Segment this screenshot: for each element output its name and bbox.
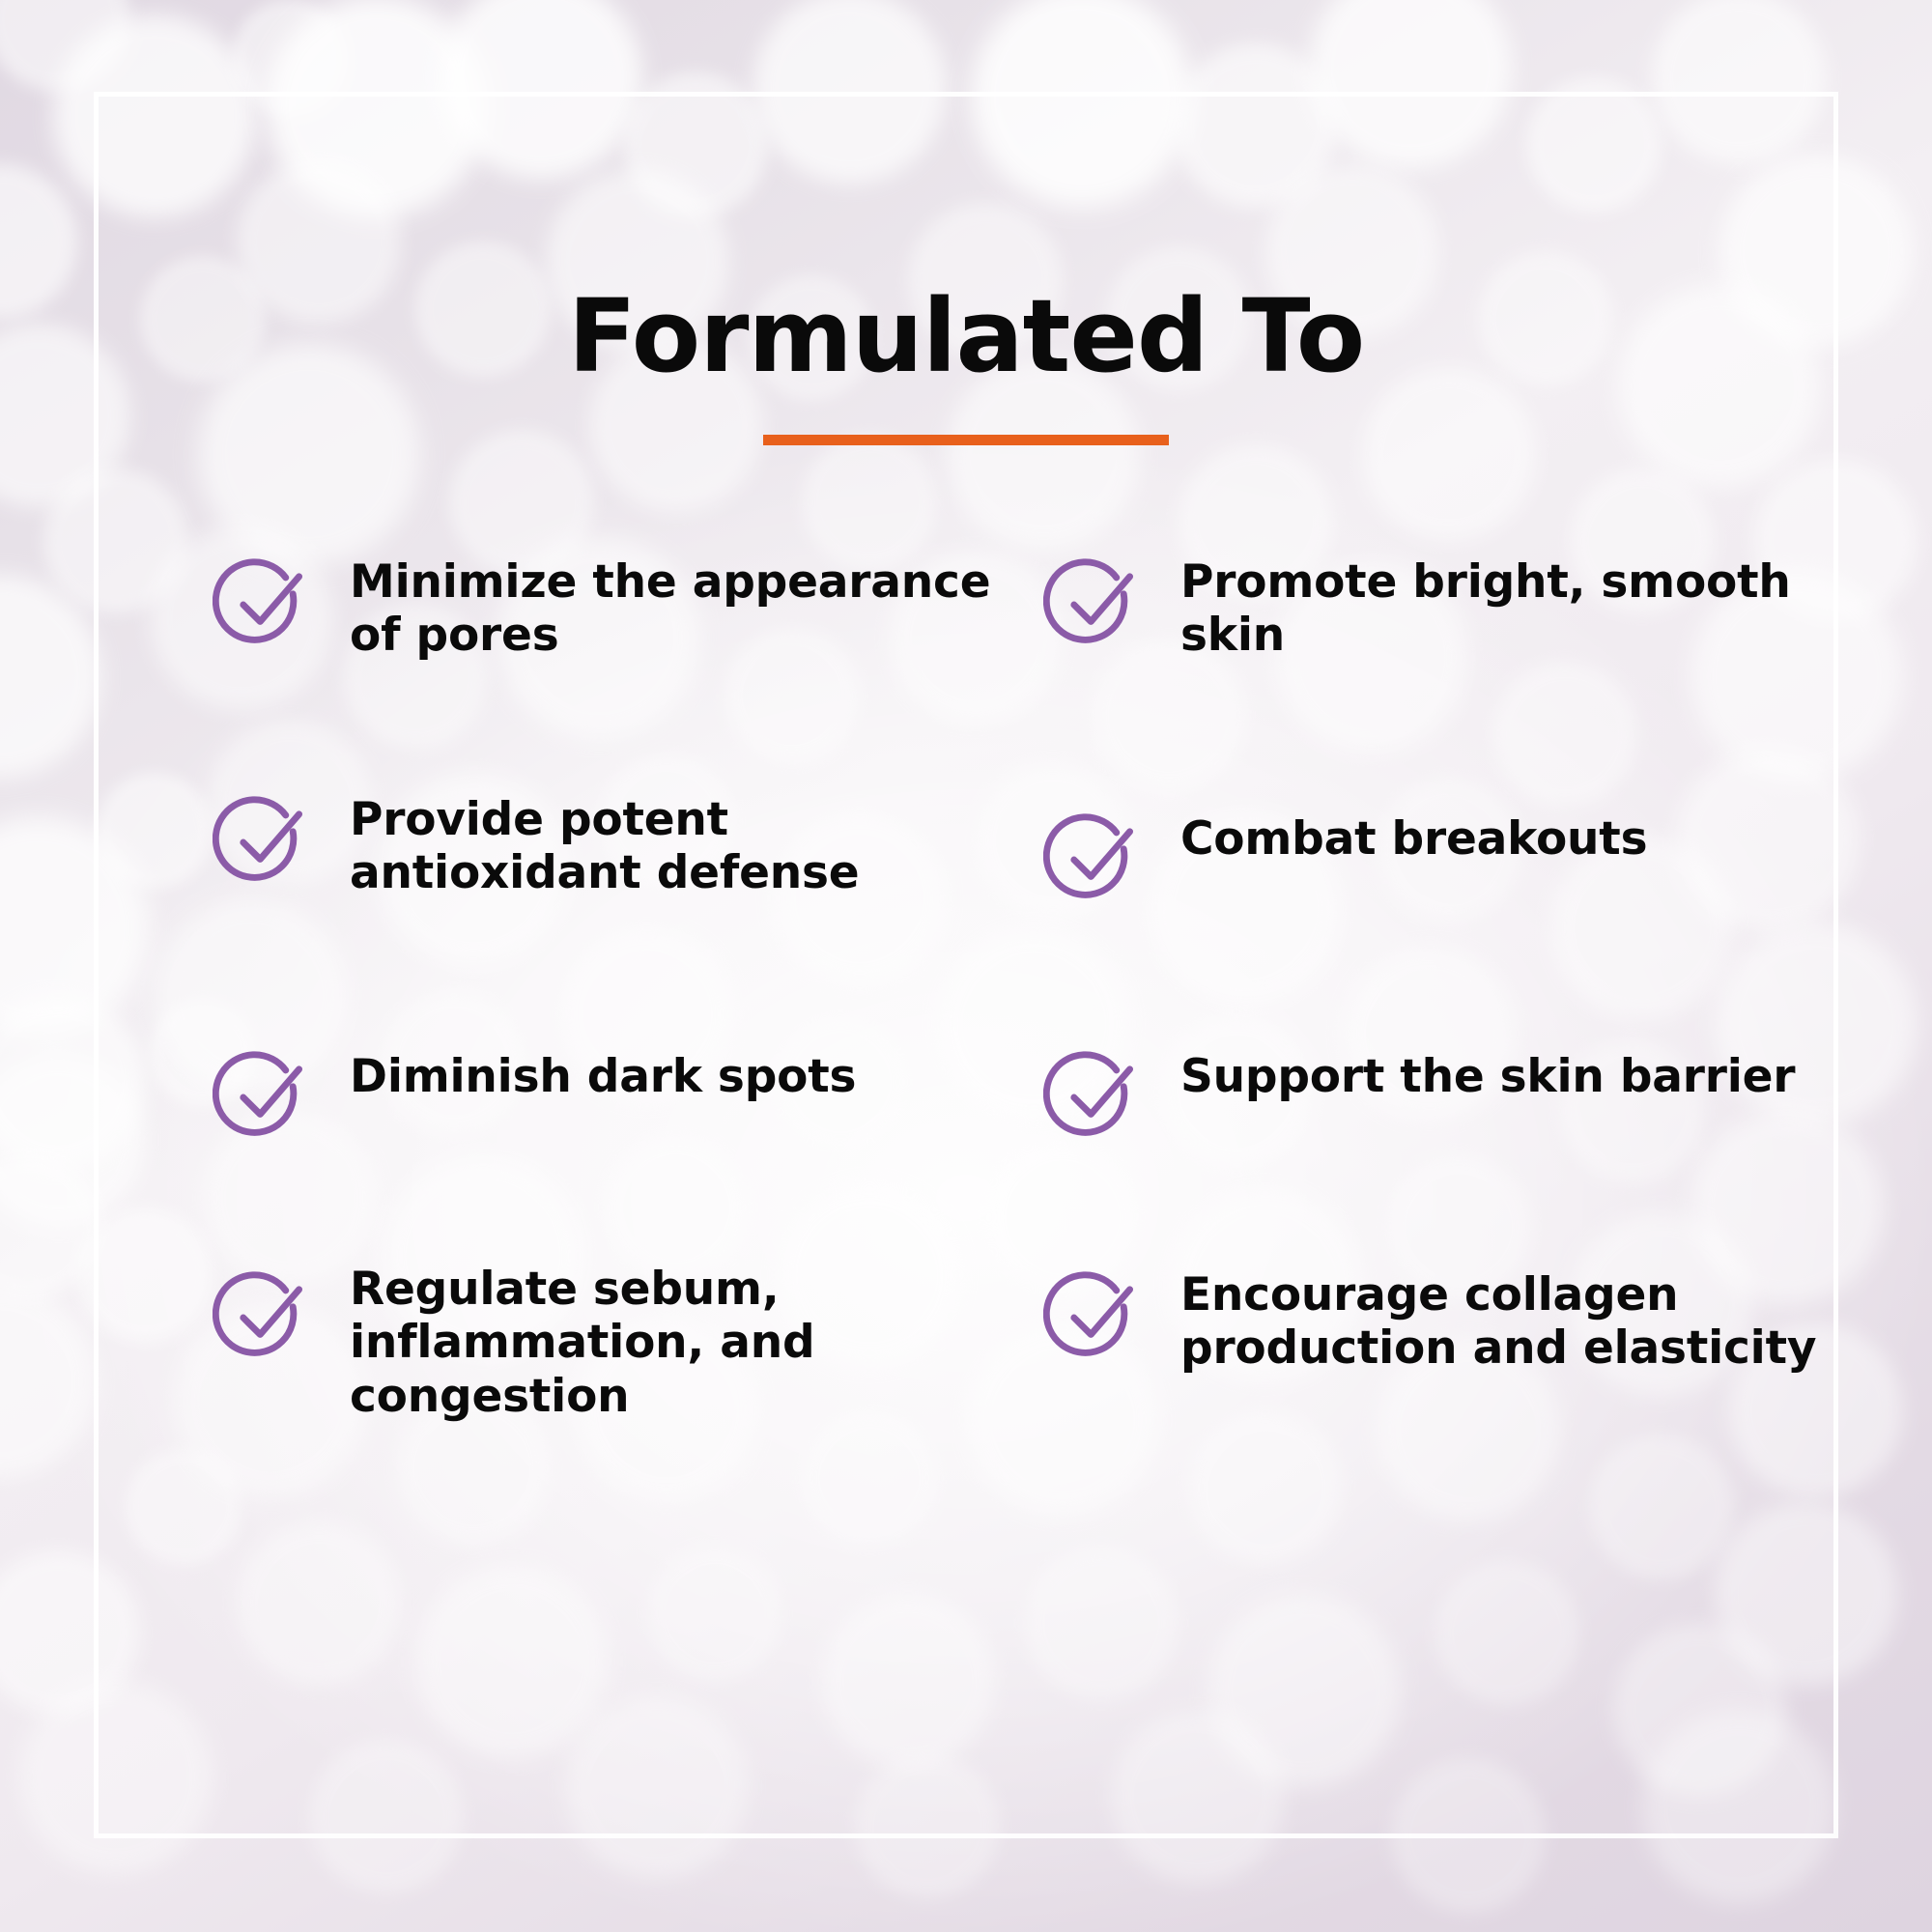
benefit-label: Regulate sebum, inflammation, and conges… — [350, 1263, 1026, 1423]
check-circle-icon — [1043, 554, 1146, 656]
benefit-label: Encourage collagen production and elasti… — [1180, 1263, 1857, 1376]
check-circle-icon — [213, 1266, 315, 1369]
check-circle-icon — [213, 1046, 315, 1149]
benefit-label: Combat breakouts — [1180, 787, 1647, 866]
benefit-label: Support the skin barrier — [1180, 1025, 1795, 1103]
benefits-grid: Minimize the appearance of pores Promote… — [135, 550, 1797, 1500]
check-circle-icon — [213, 791, 315, 894]
benefit-item: Combat breakouts — [1043, 787, 1874, 1025]
benefit-label: Minimize the appearance of pores — [350, 550, 1026, 663]
benefit-item: Provide potent antioxidant defense — [213, 787, 1043, 1025]
benefit-label: Diminish dark spots — [350, 1025, 856, 1103]
page-title: Formulated To — [568, 286, 1364, 386]
benefit-item: Diminish dark spots — [213, 1025, 1043, 1263]
poster-content: Formulated To Minimize the appearance of… — [0, 0, 1932, 1932]
benefit-item: Support the skin barrier — [1043, 1025, 1874, 1263]
benefit-item: Regulate sebum, inflammation, and conges… — [213, 1263, 1043, 1500]
title-accent-divider — [763, 435, 1169, 445]
benefit-label: Provide potent antioxidant defense — [350, 787, 1026, 900]
check-circle-icon — [1043, 1046, 1146, 1149]
check-circle-icon — [1043, 809, 1146, 911]
check-circle-icon — [1043, 1266, 1146, 1369]
benefit-item: Encourage collagen production and elasti… — [1043, 1263, 1874, 1500]
benefit-item: Minimize the appearance of pores — [213, 550, 1043, 787]
benefit-item: Promote bright, smooth skin — [1043, 550, 1874, 787]
poster-canvas: Formulated To Minimize the appearance of… — [0, 0, 1932, 1932]
check-circle-icon — [213, 554, 315, 656]
benefit-label: Promote bright, smooth skin — [1180, 550, 1857, 663]
